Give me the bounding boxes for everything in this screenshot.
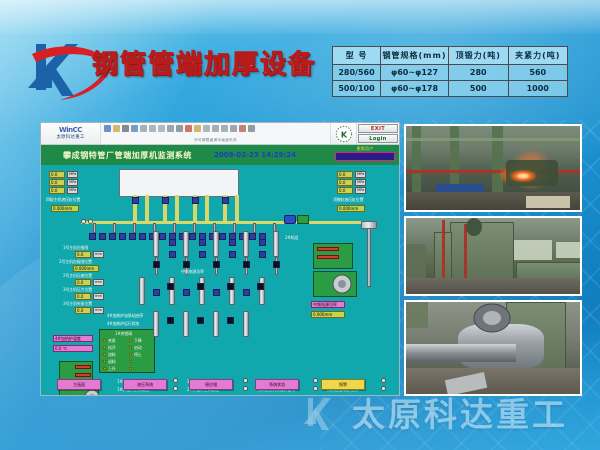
info-icon[interactable]	[176, 125, 183, 132]
valve-panel-item: 下降	[134, 338, 142, 344]
valve-stem	[173, 223, 176, 233]
photo-detail	[406, 302, 428, 328]
value-readout: 0.0	[337, 171, 353, 178]
photo-detail	[406, 138, 582, 141]
valve-stem	[253, 223, 256, 233]
status-led	[103, 339, 106, 342]
page-title: 钢管管端加厚设备	[92, 44, 316, 81]
pipe-segment	[205, 195, 209, 221]
kd-watermark-icon	[300, 392, 344, 432]
value-readout: 0.000mm	[51, 205, 79, 212]
page-header: 钢管管端加厚设备	[0, 30, 340, 102]
valve-icon[interactable]	[139, 233, 146, 240]
value-readout: 0.0	[75, 279, 91, 286]
save-icon[interactable]	[131, 125, 138, 132]
valve-icon[interactable]	[227, 317, 234, 324]
photo-detail	[412, 126, 421, 192]
status-led	[129, 367, 132, 370]
hydraulic-cylinder[interactable]	[183, 231, 189, 257]
heater-temp-label: 4#加热炉温度	[53, 335, 93, 342]
value-readout: 0.0	[49, 179, 65, 186]
valve-icon[interactable]	[257, 283, 264, 290]
status-led	[129, 339, 132, 342]
photo-detail	[514, 240, 552, 260]
label-left-cyl-position: 四辊主机液压缸位置	[46, 197, 80, 203]
watermark-text: 太原科达重工	[352, 388, 568, 436]
valve-icon[interactable]	[162, 197, 169, 204]
valve-icon[interactable]	[259, 251, 266, 258]
hydraulic-cylinder[interactable]	[213, 311, 219, 337]
hmi-toolbar-caption: 许可期限届满本画面失效	[101, 138, 330, 143]
spec-cell-model: 500/100	[333, 81, 381, 97]
hydraulic-cylinder[interactable]	[139, 277, 145, 305]
valve-icon[interactable]	[183, 289, 190, 296]
table-row: 500/100 φ60~φ178 500 1000	[333, 81, 568, 97]
photo-pipe-end-closeup	[404, 300, 582, 396]
status-led	[103, 360, 106, 363]
valve-icon[interactable]	[167, 317, 174, 324]
valve-icon[interactable]	[192, 197, 199, 204]
grid-icon[interactable]	[203, 125, 210, 132]
valve-icon[interactable]	[153, 261, 160, 268]
press-column	[367, 227, 371, 287]
alarm-icon[interactable]	[239, 125, 246, 132]
spec-table-header-row: 型 号 钢管规格(mm) 顶锻力(吨) 夹紧力(吨)	[333, 47, 568, 65]
valve-icon[interactable]	[109, 233, 116, 240]
valve-icon[interactable]	[227, 283, 234, 290]
spec-cell-upset-force: 500	[449, 81, 509, 97]
valve-icon[interactable]	[197, 317, 204, 324]
status-led	[129, 346, 132, 349]
valve-panel-item: 上升	[108, 366, 116, 372]
hmi-datetime: 2009-02-23 14:29:24	[214, 151, 296, 159]
valve-panel-item: 停止	[134, 352, 142, 358]
chuck-icon	[468, 302, 516, 336]
pump-indicator[interactable]	[88, 219, 93, 224]
cylinder-indicator	[75, 365, 91, 369]
svg-text:K: K	[340, 129, 347, 139]
exit-button[interactable]: EXIT	[358, 124, 398, 133]
valve-icon[interactable]	[169, 251, 176, 258]
valve-icon[interactable]	[159, 233, 166, 240]
valve-icon[interactable]	[219, 233, 226, 240]
hmi-toolbar: WinCC 太原科达重工	[41, 123, 399, 145]
spec-header-upset-force: 顶锻力(吨)	[449, 47, 509, 65]
label-unit-2: 2#机组	[285, 235, 298, 241]
photo-detail	[450, 222, 514, 284]
valve-icon[interactable]	[199, 239, 206, 246]
spec-cell-model: 280/560	[333, 65, 381, 81]
status-led	[103, 353, 106, 356]
photo-detail	[442, 220, 445, 280]
value-readout: 0.0	[49, 187, 65, 194]
unit-label: MPa	[355, 171, 366, 178]
valve-icon[interactable]	[169, 239, 176, 246]
valve-icon[interactable]	[229, 239, 236, 246]
spec-cell-upset-force: 280	[449, 65, 509, 81]
spec-header-pipe-size: 钢管规格(mm)	[381, 47, 449, 65]
valve-icon[interactable]	[229, 251, 236, 258]
login-button[interactable]: Login	[358, 134, 398, 143]
paste-icon[interactable]	[158, 125, 165, 132]
unit-label: mm	[93, 293, 104, 300]
company-watermark: 太原科达重工	[300, 388, 568, 436]
pipe-segment	[145, 195, 149, 221]
pump-indicator[interactable]	[81, 219, 86, 224]
label-furnace-pump: 4#加热炉油泵站启停	[107, 313, 143, 319]
table-row: 280/560 φ60~φ127 280 560	[333, 65, 568, 81]
wincc-logo-text: WinCC	[59, 127, 82, 134]
valve-icon[interactable]	[153, 289, 160, 296]
valve-panel-item: 启动	[134, 345, 142, 351]
valve-panel-title: 1#夹钳阀	[115, 331, 132, 337]
value-readout: 0.0	[49, 171, 65, 178]
photo-detail	[450, 126, 459, 192]
cut-icon[interactable]	[140, 125, 147, 132]
photo-detail	[526, 196, 570, 208]
value-readout: 0.0	[337, 179, 353, 186]
heater-temp-value: 0.0 ℃	[53, 345, 93, 352]
value-readout: 0.000mm	[73, 265, 99, 272]
user-icon[interactable]	[185, 125, 192, 132]
hmi-toolbar-icons[interactable]: 许可期限届满本画面失效	[101, 123, 331, 144]
hydraulic-cylinder[interactable]	[153, 311, 159, 337]
value-readout-label: 中频电源功率	[311, 301, 345, 308]
valve-icon[interactable]	[213, 261, 220, 268]
valve-panel-item: 松开	[108, 345, 116, 351]
spec-cell-clamp-force: 560	[508, 65, 568, 81]
photo-factory-hot-pipe	[404, 124, 582, 212]
valve-icon[interactable]	[119, 233, 126, 240]
valve-icon[interactable]	[132, 197, 139, 204]
refresh-icon[interactable]	[104, 125, 111, 132]
hydraulic-cylinder[interactable]	[169, 277, 175, 305]
status-led	[103, 367, 106, 370]
spec-cell-pipe-size: φ60~φ178	[381, 81, 449, 97]
spec-table: 型 号 钢管规格(mm) 顶锻力(吨) 夹紧力(吨) 280/560 φ60~φ…	[332, 46, 568, 97]
value-readout: 0.0	[337, 187, 353, 194]
hmi-toolbar-buttons: EXIT Login	[357, 123, 399, 144]
wincc-logo-subtext: 太原科达重工	[56, 136, 84, 141]
status-led	[103, 346, 106, 349]
unit-label: mm	[93, 279, 104, 286]
valve-stem	[233, 223, 236, 233]
hydraulic-cylinder[interactable]	[243, 311, 249, 337]
status-led	[129, 360, 132, 363]
valve-icon[interactable]	[189, 233, 196, 240]
unit-label: MPa	[67, 179, 78, 186]
pump-icon[interactable]	[297, 215, 309, 224]
value-readout: 0.0	[75, 307, 91, 314]
spec-header-clamp-force: 夹紧力(吨)	[508, 47, 568, 65]
hydraulic-cylinder[interactable]	[183, 311, 189, 337]
table-icon[interactable]	[221, 125, 228, 132]
value-readout: 0.000mm	[337, 205, 365, 212]
motor-icon[interactable]	[284, 215, 296, 224]
zoom-icon[interactable]	[230, 125, 237, 132]
main-header-pipe	[81, 221, 361, 224]
hydraulic-cylinder[interactable]	[213, 231, 219, 257]
valve-stem	[133, 223, 136, 233]
label-power-supply: 中频电源功率	[181, 269, 204, 275]
print-icon[interactable]	[122, 125, 129, 132]
unit-label: MPa	[355, 179, 366, 186]
valve-icon[interactable]	[129, 233, 136, 240]
unit-label: MPa	[67, 171, 78, 178]
clock-gauge-icon: K	[331, 123, 357, 144]
nav-button-main-screen[interactable]: 主画面	[57, 379, 101, 390]
hydraulic-cylinder[interactable]	[153, 231, 159, 257]
nav-button-hydraulic-system[interactable]: 液压系统	[123, 379, 167, 390]
unit-label: mm	[93, 307, 104, 314]
help-icon[interactable]	[248, 125, 255, 132]
undo-icon[interactable]	[167, 125, 174, 132]
valve-icon[interactable]	[197, 283, 204, 290]
valve-icon[interactable]	[243, 261, 250, 268]
pipe-segment	[175, 195, 179, 221]
hydraulic-cylinder[interactable]	[259, 277, 265, 305]
spec-header-model: 型 号	[333, 47, 381, 65]
photo-detail	[466, 218, 482, 236]
hydraulic-cylinder[interactable]	[199, 277, 205, 305]
unit-label: MPa	[355, 187, 366, 194]
value-readout: 0.0	[75, 251, 91, 258]
value-readout: 0.000mm	[311, 311, 345, 318]
valve-icon[interactable]	[259, 239, 266, 246]
valve-icon[interactable]	[199, 251, 206, 258]
photo-upsetting-machine	[404, 216, 582, 296]
photo-detail	[406, 352, 516, 362]
cylinder-indicator	[317, 247, 339, 251]
copy-icon[interactable]	[149, 125, 156, 132]
wincc-logo: WinCC 太原科达重工	[41, 123, 101, 144]
key-icon[interactable]	[194, 125, 201, 132]
label-furnace-status: 4#加热炉运行状态	[107, 321, 139, 327]
valve-icon[interactable]	[183, 261, 190, 268]
valve-panel-item: 夹紧	[108, 338, 116, 344]
chart-icon[interactable]	[212, 125, 219, 132]
valve-stem	[93, 223, 96, 233]
label-right-cyl-position: 顶镦缸液压缸位置	[333, 197, 363, 203]
hydraulic-cylinder[interactable]	[229, 277, 235, 305]
photo-detail	[556, 242, 580, 258]
valve-stem	[113, 223, 116, 233]
hmi-user-input[interactable]	[335, 152, 395, 161]
unit-label: MPa	[67, 187, 78, 194]
photo-detail	[510, 170, 536, 182]
cylinder-indicator	[75, 373, 91, 377]
press-head	[361, 221, 377, 229]
valve-icon[interactable]	[89, 233, 96, 240]
valve-panel-item: 进料	[108, 352, 116, 358]
status-led	[129, 353, 132, 356]
hmi-title-bar: 攀成钢特管厂管端加厚机监测系统 2009-02-23 14:29:24 更换用户	[41, 145, 399, 165]
valve-panel-item: 退料	[108, 359, 116, 365]
valve-stem	[193, 223, 196, 233]
hmi-user-field[interactable]: 更换用户	[335, 146, 395, 161]
nav-button-system-status[interactable]: 系统状态	[255, 379, 299, 390]
cylinder-indicator	[317, 255, 339, 259]
hmi-screen-title: 攀成钢特管厂管端加厚机监测系统	[63, 150, 192, 161]
value-readout: 0.0	[75, 293, 91, 300]
valve-icon[interactable]	[249, 233, 256, 240]
pipe-segment	[235, 195, 239, 221]
gear-icon	[329, 271, 355, 297]
hmi-mimic-diagram[interactable]: 0.0 MPa 0.0 MPa 0.0 MPa 四辊主机液压缸位置 0.000m…	[41, 165, 399, 395]
spec-cell-pipe-size: φ60~φ127	[381, 65, 449, 81]
unit-label: mm	[93, 251, 104, 258]
nav-button-induction-roller[interactable]: 感应辊	[189, 379, 233, 390]
valve-icon[interactable]	[167, 283, 174, 290]
valve-icon[interactable]	[99, 233, 106, 240]
hydraulic-cylinder[interactable]	[243, 231, 249, 257]
photo-detail	[406, 278, 580, 294]
spec-cell-clamp-force: 1000	[508, 81, 568, 97]
open-icon[interactable]	[113, 125, 120, 132]
hydraulic-cylinder[interactable]	[273, 231, 279, 257]
hmi-screenshot-panel: WinCC 太原科达重工	[40, 122, 400, 396]
valve-icon[interactable]	[243, 289, 250, 296]
valve-icon[interactable]	[273, 261, 280, 268]
valve-icon[interactable]	[213, 289, 220, 296]
manifold-block	[119, 169, 239, 197]
valve-icon[interactable]	[222, 197, 229, 204]
